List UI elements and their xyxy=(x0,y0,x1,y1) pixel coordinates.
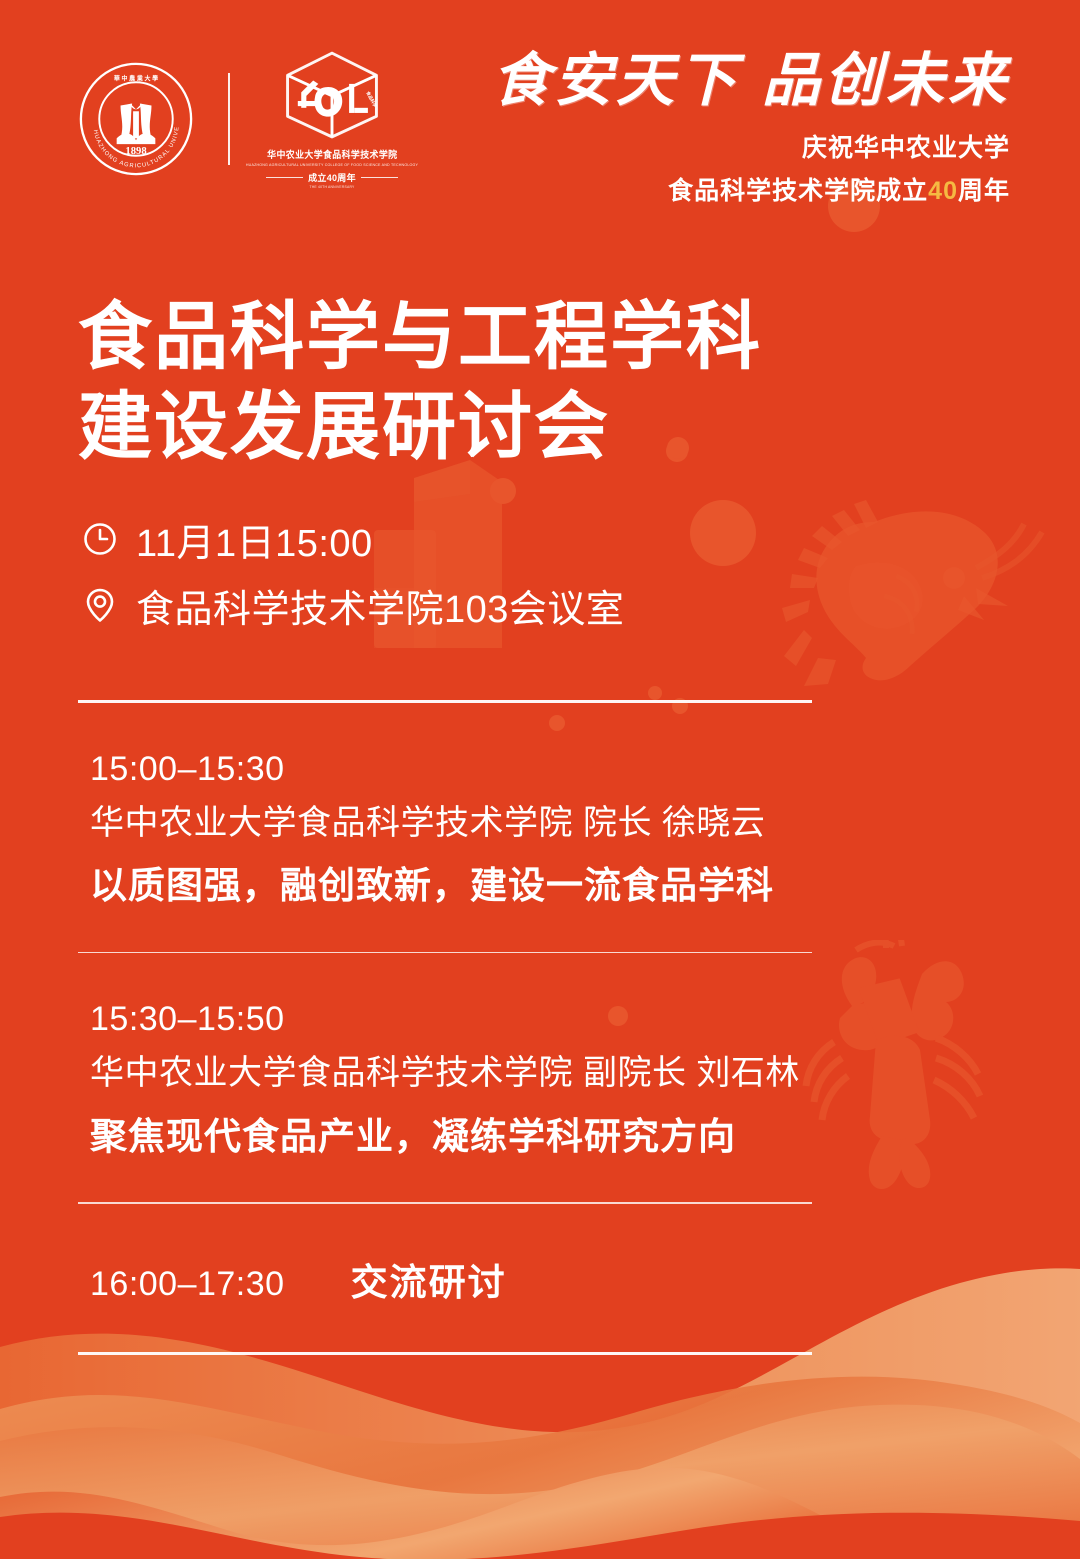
event-location-row: 食品科学技术学院103会议室 xyxy=(82,578,624,632)
poster-header: 1898 華 中 農 業 大 學 HUAZHONG AGRICULTURAL U… xyxy=(0,0,1080,210)
emblem-rule-right xyxy=(361,177,398,178)
title-line-2: 建设发展研讨会 xyxy=(78,382,762,472)
agenda-session: 15:00–15:30 华中农业大学食品科学技术学院 院长 徐晓云 以质图强，融… xyxy=(78,703,812,952)
emblem-college-name: 华中农业大学食品科学技术学院 xyxy=(267,147,397,161)
svg-text:華 中 農 業 大 學: 華 中 農 業 大 學 xyxy=(114,74,158,82)
agenda-divider-2 xyxy=(78,1202,812,1204)
agenda-divider-1 xyxy=(78,952,812,954)
agenda-closing-session: 16:00–17:30 交流研讨 xyxy=(78,1204,812,1352)
emblem-anniversary-rule: 成立40周年 xyxy=(266,171,398,184)
event-meta: 11月1日15:00 食品科学技术学院103会议室 xyxy=(82,512,624,644)
session-topic: 聚焦现代食品产业，凝练学科研究方向 xyxy=(90,1111,812,1163)
circle-blob xyxy=(690,500,756,566)
location-pin-icon xyxy=(82,587,118,623)
anniversary-emblem: 食品科学 华中农业大学食品科学技术学院 HUAZHONG AGRICULTURA… xyxy=(262,48,402,189)
slogan-block: 食安天下品创未来 庆祝华中农业大学 食品科学技术学院成立40周年 xyxy=(492,52,1010,207)
session-speaker: 华中农业大学食品科学技术学院 副院长 刘石林 xyxy=(90,1049,812,1098)
lobster-watermark xyxy=(790,940,1080,1210)
anniversary-line-2-suffix: 周年 xyxy=(958,177,1010,205)
emblem-rule-left xyxy=(266,177,303,178)
closing-label: 交流研讨 xyxy=(351,1252,507,1306)
logo-group: 1898 華 中 農 業 大 學 HUAZHONG AGRICULTURAL U… xyxy=(78,48,402,189)
session-topic: 以质图强，融创致新，建设一流食品学科 xyxy=(90,860,812,912)
shrimp-watermark xyxy=(770,470,1080,710)
session-speaker: 华中农业大学食品科学技术学院 院长 徐晓云 xyxy=(90,799,812,848)
slogan-part1: 食安天下 xyxy=(492,48,740,113)
closing-time: 16:00–17:30 xyxy=(90,1262,285,1308)
anniversary-number: 40 xyxy=(928,177,958,205)
emblem-college-name-en: HUAZHONG AGRICULTURAL UNIVERSITY COLLEGE… xyxy=(246,163,418,167)
circle-blob xyxy=(648,686,662,700)
event-location-value: 食品科学技术学院103会议室 xyxy=(136,578,624,633)
slogan-calligraphy: 食安天下品创未来 xyxy=(492,52,1010,110)
clock-icon xyxy=(82,521,118,557)
anniversary-line-1: 庆祝华中农业大学 xyxy=(492,128,1010,164)
session-time: 15:30–15:50 xyxy=(90,997,812,1043)
page-title: 食品科学与工程学科 建设发展研讨会 xyxy=(78,292,762,473)
event-time-row: 11月1日15:00 xyxy=(82,512,624,566)
title-line-1: 食品科学与工程学科 xyxy=(78,292,762,382)
emblem-anniversary-label: 成立40周年 xyxy=(308,171,356,184)
anniversary-line-2-prefix: 食品科学技术学院成立 xyxy=(668,177,928,205)
emblem-anniversary-label-en: THE 40TH ANNIVERSARY xyxy=(309,185,354,189)
logo-separator xyxy=(228,73,230,165)
agenda-divider-bottom xyxy=(78,1352,812,1355)
svg-text:1898: 1898 xyxy=(125,145,146,156)
session-time: 15:00–15:30 xyxy=(90,747,812,793)
agenda-session: 15:30–15:50 华中农业大学食品科学技术学院 副院长 刘石林 聚焦现代食… xyxy=(78,953,812,1202)
circle-blob xyxy=(490,478,516,504)
university-seal-icon: 1898 華 中 農 業 大 學 HUAZHONG AGRICULTURAL U… xyxy=(78,61,194,177)
event-time-value: 11月1日15:00 xyxy=(136,512,373,567)
anniversary-line-2: 食品科学技术学院成立40周年 xyxy=(492,171,1010,207)
poster-root: 1898 華 中 農 業 大 學 HUAZHONG AGRICULTURAL U… xyxy=(0,0,1080,1559)
agenda-divider-top xyxy=(78,700,812,703)
slogan-part2: 品创未来 xyxy=(762,48,1010,113)
agenda-list: 15:00–15:30 华中农业大学食品科学技术学院 院长 徐晓云 以质图强，融… xyxy=(78,700,812,1355)
anniversary-cube-40-icon: 食品科学 xyxy=(280,48,384,142)
